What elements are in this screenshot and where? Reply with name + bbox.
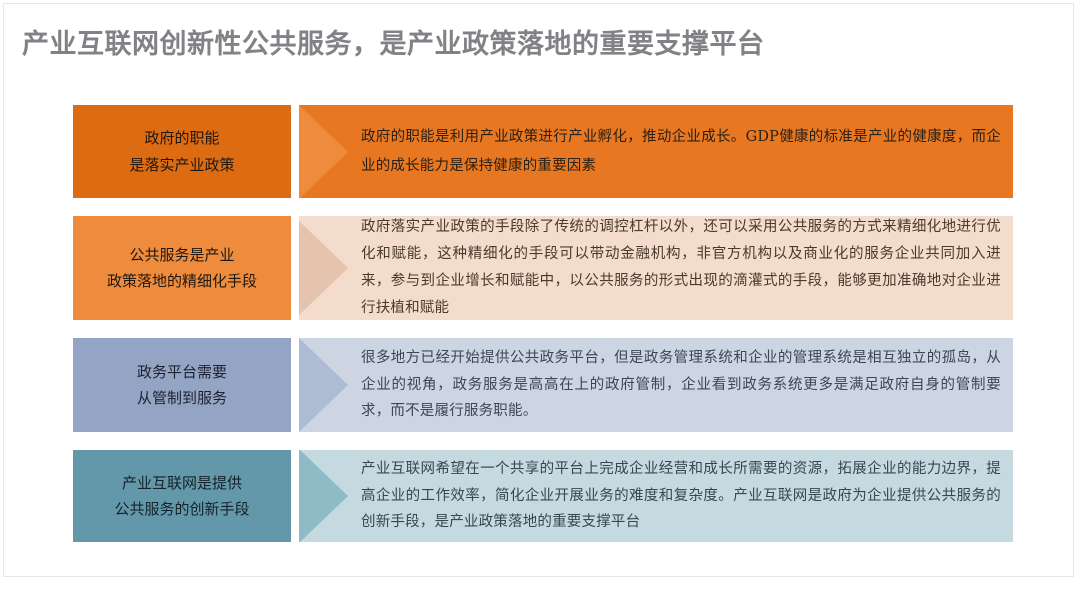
row-2-panel[interactable]: 政府落实产业政策的手段除了传统的调控杠杆以外，还可以采用公共服务的方式来精细化地… bbox=[299, 216, 1013, 320]
row-1-panel[interactable]: 政府的职能是利用产业政策进行产业孵化，推动企业成长。GDP健康的标准是产业的健康… bbox=[299, 105, 1013, 198]
content-row-2: 公共服务是产业 政策落地的精细化手段 政府落实产业政策的手段除了传统的调控杠杆以… bbox=[73, 216, 1013, 320]
row-3-panel[interactable]: 很多地方已经开始提供公共政务平台，但是政务管理系统和企业的管理系统是相互独立的孤… bbox=[299, 338, 1013, 432]
row-1-panel-text: 政府的职能是利用产业政策进行产业孵化，推动企业成长。GDP健康的标准是产业的健康… bbox=[361, 123, 1001, 180]
row-4-panel[interactable]: 产业互联网希望在一个共享的平台上完成企业经营和成长所需要的资源，拓展企业的能力边… bbox=[299, 450, 1013, 542]
row-3-label-box[interactable]: 政务平台需要 从管制到服务 bbox=[73, 338, 291, 432]
row-4-panel-text: 产业互联网希望在一个共享的平台上完成企业经营和成长所需要的资源，拓展企业的能力边… bbox=[361, 456, 1001, 536]
row-inner: 公共服务是产业 政策落地的精细化手段 政府落实产业政策的手段除了传统的调控杠杆以… bbox=[73, 216, 1013, 320]
row-2-label-box[interactable]: 公共服务是产业 政策落地的精细化手段 bbox=[73, 216, 291, 320]
row-1-gap bbox=[291, 105, 299, 198]
page-title: 产业互联网创新性公共服务，是产业政策落地的重要支撑平台 bbox=[22, 22, 1052, 61]
content-row-3: 政务平台需要 从管制到服务 很多地方已经开始提供公共政务平台，但是政务管理系统和… bbox=[73, 338, 1013, 432]
content-row-1: 政府的职能 是落实产业政策 政府的职能是利用产业政策进行产业孵化，推动企业成长。… bbox=[73, 105, 1013, 198]
row-inner: 政务平台需要 从管制到服务 很多地方已经开始提供公共政务平台，但是政务管理系统和… bbox=[73, 338, 1013, 432]
arrow-right-icon bbox=[299, 450, 348, 542]
row-2-gap bbox=[291, 216, 299, 320]
row-4-label-box[interactable]: 产业互联网是提供 公共服务的创新手段 bbox=[73, 450, 291, 542]
row-4-gap bbox=[291, 450, 299, 542]
row-3-panel-text: 很多地方已经开始提供公共政务平台，但是政务管理系统和企业的管理系统是相互独立的孤… bbox=[361, 345, 1001, 425]
row-3-gap bbox=[291, 338, 299, 432]
row-3-label-text: 政务平台需要 从管制到服务 bbox=[137, 359, 227, 412]
row-inner: 政府的职能 是落实产业政策 政府的职能是利用产业政策进行产业孵化，推动企业成长。… bbox=[73, 105, 1013, 198]
arrow-right-icon bbox=[299, 338, 348, 432]
row-2-label-text: 公共服务是产业 政策落地的精细化手段 bbox=[107, 242, 257, 295]
row-4-label-text: 产业互联网是提供 公共服务的创新手段 bbox=[114, 470, 249, 523]
content-rows: 政府的职能 是落实产业政策 政府的职能是利用产业政策进行产业孵化，推动企业成长。… bbox=[73, 105, 1013, 560]
slide-canvas: 产业互联网创新性公共服务，是产业政策落地的重要支撑平台 政府的职能 是落实产业政… bbox=[3, 3, 1074, 577]
arrow-right-icon bbox=[299, 105, 348, 198]
content-row-4: 产业互联网是提供 公共服务的创新手段 产业互联网希望在一个共享的平台上完成企业经… bbox=[73, 450, 1013, 542]
row-1-label-box[interactable]: 政府的职能 是落实产业政策 bbox=[73, 105, 291, 198]
row-inner: 产业互联网是提供 公共服务的创新手段 产业互联网希望在一个共享的平台上完成企业经… bbox=[73, 450, 1013, 542]
arrow-right-icon bbox=[299, 221, 348, 315]
row-2-panel-text: 政府落实产业政策的手段除了传统的调控杠杆以外，还可以采用公共服务的方式来精细化地… bbox=[361, 216, 1001, 320]
row-1-label-text: 政府的职能 是落实产业政策 bbox=[129, 125, 234, 178]
